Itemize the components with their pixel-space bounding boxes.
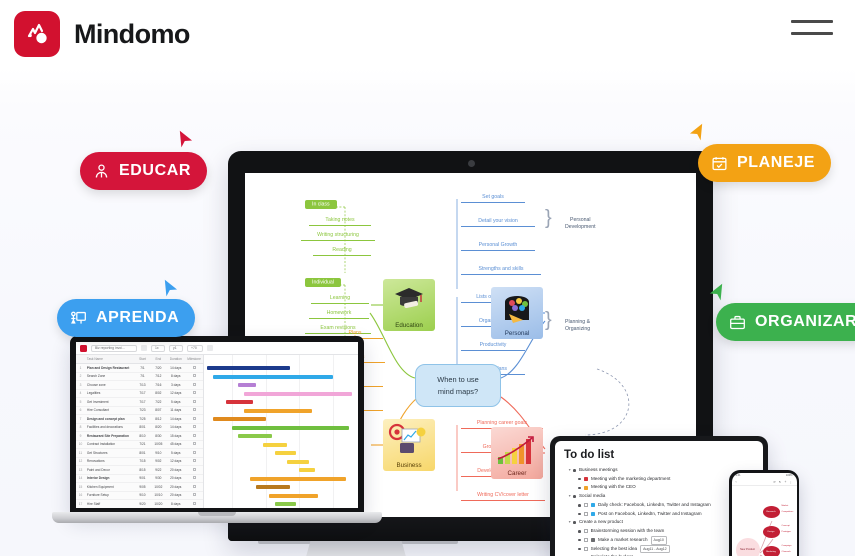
personal-leaf[interactable]: Productivity: [461, 341, 525, 351]
task-milestone: [185, 400, 203, 404]
task-end: 9/10: [150, 451, 166, 455]
task-end: 7/22: [150, 400, 166, 404]
phone-node[interactable]: Research: [763, 506, 780, 518]
phone-central-node[interactable]: New Product: [736, 538, 760, 556]
mindmap-central-node[interactable]: When to use mind maps?: [415, 364, 501, 407]
gantt-table-header: Task Name Start End Duration Milestone: [76, 355, 203, 364]
zoom-out-button[interactable]: 1x: [151, 345, 165, 352]
task-duration: 14 days: [166, 425, 185, 429]
person-icon: [584, 486, 588, 490]
status-battery: 100%: [786, 474, 793, 477]
task-name: Get Structures: [85, 451, 135, 455]
gantt-gridline: [333, 355, 334, 508]
task-milestone: [185, 476, 203, 480]
bullet-icon: [578, 513, 581, 516]
todo-item[interactable]: Selecting the best ideaAug11 - Aug12: [564, 545, 754, 554]
education-leaf[interactable]: Writing structuring: [301, 231, 375, 241]
task-start: 8/01: [135, 425, 151, 429]
fit-button[interactable]: +70: [187, 345, 203, 352]
topic-label: Personal: [505, 330, 529, 337]
todo-item[interactable]: Brainstorming session with the team: [564, 527, 754, 536]
task-start: 8/01: [135, 451, 151, 455]
gantt-task-row[interactable]: 11Get Structures8/019/105 days: [76, 449, 203, 458]
gantt-task-row[interactable]: 2Search Zone7/17/128 days: [76, 373, 203, 382]
phone-mindmap[interactable]: New Product Research Design Marketing La…: [732, 486, 797, 556]
todo-item-label: Post on Facebook, LinkedIn, Twitter and …: [598, 510, 702, 519]
task-start: 9/01: [135, 476, 151, 480]
task-end: 8/12: [150, 417, 166, 421]
todo-date-badge[interactable]: Aug10: [651, 536, 667, 545]
calendar-check-icon: [711, 155, 728, 172]
task-start: 7/17: [135, 391, 151, 395]
task-milestone: [185, 502, 203, 506]
number-2-icon: [591, 512, 595, 516]
monitor-stand: [296, 541, 416, 556]
gantt-bar[interactable]: [275, 502, 297, 506]
task-id: 1: [76, 366, 85, 370]
phone-leaf[interactable]: Competitors: [782, 511, 794, 513]
education-leaf[interactable]: Learning: [311, 294, 369, 304]
task-name: Legalities: [85, 391, 135, 395]
mindomo-mark-icon: [14, 11, 60, 57]
badge-organizar[interactable]: ORGANIZAR: [716, 303, 855, 341]
gantt-task-row[interactable]: 4Legalities7/178/0212 days: [76, 390, 203, 399]
task-milestone: [185, 459, 203, 463]
gantt-task-row[interactable]: 17Hire Staff9/2010/208 days: [76, 500, 203, 508]
gantt-body: Task Name Start End Duration Milestone 1…: [76, 355, 358, 508]
phone-leaf[interactable]: Campaign: [782, 545, 792, 547]
gantt-task-row[interactable]: 10Contract Installation7/2110/0545 days: [76, 441, 203, 450]
hero-stage: EDUCAR APRENDA PLANEJE ORGANIZAR: [0, 68, 855, 556]
filter-icon[interactable]: [207, 345, 213, 351]
todo-date-badge[interactable]: Aug11 - Aug12: [640, 545, 670, 554]
task-end: 10/02: [150, 485, 166, 489]
undo-icon[interactable]: ↺: [773, 480, 776, 484]
grid-icon[interactable]: [141, 345, 147, 351]
badge-label: EDUCAR: [119, 162, 191, 180]
hamburger-line: [791, 32, 833, 35]
checkbox[interactable]: [584, 503, 588, 507]
education-group-2-label[interactable]: Individual: [305, 279, 341, 286]
task-start: 9/10: [135, 493, 151, 497]
laptop-lid: Biz reporting invoi... 1x y1 +70 Task Na…: [70, 336, 364, 514]
gantt-bar[interactable]: [232, 426, 349, 430]
laptop-screen: Biz reporting invoi... 1x y1 +70 Task Na…: [76, 342, 358, 508]
career-leaf[interactable]: Writing CV/cover letter: [461, 491, 545, 501]
todo-item-label: Meeting with the marketing department: [591, 475, 670, 484]
todo-item-label: Make a market research: [598, 536, 648, 545]
brace-planning-organizing: }: [545, 309, 552, 332]
task-duration: 45 days: [166, 442, 185, 446]
gantt-bar[interactable]: [207, 366, 290, 370]
badge-planeje[interactable]: PLANEJE: [698, 144, 831, 182]
more-icon[interactable]: ⋮: [789, 480, 792, 484]
personal-group-2-label: Planning & Organizing: [565, 319, 590, 333]
gantt-task-row[interactable]: 3Choose zone7/137/163 days: [76, 381, 203, 390]
gantt-task-row[interactable]: 5Get Investment7/177/225 days: [76, 398, 203, 407]
task-name: Renovations: [85, 459, 135, 463]
task-end: 7/20: [150, 366, 166, 370]
bullet-icon: [578, 539, 581, 542]
gantt-task-row[interactable]: 15Kitchen Equipment9/0510/0220 days: [76, 483, 203, 492]
phone-toolbar[interactable]: ‹ ↺ ↻ + ⋮: [732, 479, 797, 486]
gantt-bar[interactable]: [226, 400, 254, 404]
gantt-bar[interactable]: [263, 443, 288, 447]
task-duration: 5 days: [166, 400, 185, 404]
bullet-icon: [578, 478, 581, 481]
todo-item[interactable]: Meeting with the CEO: [564, 483, 754, 492]
brace-personal-development: }: [545, 207, 552, 230]
gantt-toolbar: Biz reporting invoi... 1x y1 +70: [76, 342, 358, 355]
task-duration: 20 days: [166, 468, 185, 472]
task-milestone: [185, 391, 203, 395]
task-end: 10/05: [150, 442, 166, 446]
personal-leaf[interactable]: Detail your vision: [461, 217, 535, 227]
gantt-chart-area[interactable]: [204, 355, 358, 508]
col-end: End: [150, 357, 166, 361]
todo-item-label: Business meetings: [579, 466, 618, 475]
checkbox[interactable]: [584, 529, 588, 533]
bullet-icon: [573, 495, 576, 498]
task-end: 10/20: [150, 502, 166, 506]
badge-label: APRENDA: [96, 309, 179, 327]
task-start: 8/10: [135, 434, 151, 438]
task-id: 6: [76, 408, 85, 412]
task-start: 7/23: [135, 408, 151, 412]
gantt-bar[interactable]: [213, 375, 333, 379]
task-end: 9/02: [150, 459, 166, 463]
education-leaf[interactable]: Homework: [309, 309, 369, 319]
task-start: 7/13: [135, 383, 151, 387]
col-start: Start: [135, 357, 151, 361]
task-id: 9: [76, 434, 85, 438]
todo-item[interactable]: Meeting with the marketing department: [564, 475, 754, 484]
task-start: 7/15: [135, 459, 151, 463]
calendar-icon: [591, 538, 595, 542]
todo-item[interactable]: Daily check: Facebook, LinkedIn, Twitter…: [564, 501, 754, 510]
task-duration: 8 days: [166, 374, 185, 378]
gantt-task-row[interactable]: 13Paint and Decor8/159/2220 days: [76, 466, 203, 475]
education-group-1-label[interactable]: In class: [305, 201, 337, 208]
user-education-icon: [93, 163, 110, 180]
page-header: Mindomo: [0, 0, 855, 68]
back-icon[interactable]: ‹: [736, 480, 737, 484]
calendar-red-icon: [584, 477, 588, 481]
laptop-device: Biz reporting invoi... 1x y1 +70 Task Na…: [52, 336, 382, 536]
task-start: 7/25: [135, 417, 151, 421]
task-id: 11: [76, 451, 85, 455]
task-duration: 12 days: [166, 391, 185, 395]
education-leaf[interactable]: Reading: [313, 246, 371, 256]
project-selector[interactable]: Biz reporting invoi...: [91, 345, 137, 352]
gantt-task-row[interactable]: 7Design and concept plan7/258/1214 days: [76, 415, 203, 424]
gantt-bar[interactable]: [299, 468, 314, 472]
gantt-bar[interactable]: [244, 409, 312, 413]
gantt-task-row[interactable]: 16Furniture Setup9/1010/1020 days: [76, 492, 203, 501]
task-milestone: [185, 434, 203, 438]
gantt-task-row[interactable]: 9Restaurant Site Preparation8/108/3015 d…: [76, 432, 203, 441]
cursor-educar: [176, 130, 194, 150]
brand-logo[interactable]: Mindomo: [14, 11, 190, 57]
gantt-task-row[interactable]: 6Hire Consultant7/238/0711 days: [76, 407, 203, 416]
task-start: 7/1: [135, 366, 151, 370]
task-start: 9/20: [135, 502, 151, 506]
phone-node[interactable]: Design: [763, 526, 780, 538]
task-duration: 15 days: [166, 434, 185, 438]
task-duration: 3 days: [166, 383, 185, 387]
task-id: 2: [76, 374, 85, 378]
task-end: 9/30: [150, 476, 166, 480]
redo-icon[interactable]: ↻: [779, 480, 782, 484]
gantt-task-row[interactable]: 12Renovations7/159/0212 days: [76, 458, 203, 467]
gantt-bar[interactable]: [250, 477, 345, 481]
cursor-planeje: [688, 123, 706, 143]
phone-leaf[interactable]: Concept: [782, 525, 790, 527]
task-milestone: [185, 493, 203, 497]
task-id: 13: [76, 468, 85, 472]
phone-node[interactable]: Marketing: [763, 546, 780, 556]
task-name: Restaurant Site Preparation: [85, 434, 135, 438]
task-end: 7/12: [150, 374, 166, 378]
status-time: 9:41: [736, 474, 741, 477]
task-milestone: [185, 383, 203, 387]
task-start: 8/15: [135, 468, 151, 472]
personal-leaf[interactable]: Set goals: [461, 193, 525, 203]
task-start: 7/21: [135, 442, 151, 446]
task-duration: 12 days: [166, 459, 185, 463]
task-name: Facilities and decorations: [85, 425, 135, 429]
collapse-caret-icon[interactable]: ▼: [568, 467, 571, 473]
todo-item-label: Social media: [579, 492, 605, 501]
gantt-bar[interactable]: [238, 383, 256, 387]
personal-leaf[interactable]: Personal Growth: [461, 241, 535, 251]
topic-label: Education: [395, 322, 423, 329]
bullet-icon: [578, 487, 581, 490]
task-name: Search Zone: [85, 374, 135, 378]
phone-leaf[interactable]: Prototype: [782, 531, 791, 533]
task-id: 15: [76, 485, 85, 489]
task-milestone: [185, 425, 203, 429]
task-milestone: [185, 374, 203, 378]
presenter-board-icon: [70, 310, 87, 327]
hamburger-line: [791, 20, 833, 23]
personal-group-1-label: Personal Development: [565, 217, 596, 231]
task-duration: 14 days: [166, 417, 185, 421]
todo-item-label: Daily check: Facebook, LinkedIn, Twitter…: [598, 501, 711, 510]
gantt-task-table: Task Name Start End Duration Milestone 1…: [76, 355, 204, 508]
todo-item-label: Selecting the best idea: [591, 545, 637, 554]
task-duration: 8 days: [166, 502, 185, 506]
todo-item-label: Create a new product: [579, 518, 623, 527]
personal-leaf[interactable]: Strengths and skills: [461, 265, 541, 275]
gantt-bar[interactable]: [275, 451, 297, 455]
task-milestone: [185, 408, 203, 412]
checkbox[interactable]: [584, 538, 588, 542]
bullet-icon: [578, 504, 581, 507]
bullet-icon: [578, 548, 581, 551]
task-duration: 14 days: [166, 366, 185, 370]
todo-item[interactable]: ▼Create a new product: [564, 518, 754, 527]
collapse-caret-icon[interactable]: ▼: [568, 493, 571, 499]
task-name: Get Investment: [85, 400, 135, 404]
topic-business[interactable]: Business: [383, 419, 435, 471]
task-start: 9/05: [135, 485, 151, 489]
topic-label: Career: [508, 470, 527, 477]
cursor-organizar: [708, 283, 726, 303]
gantt-bar[interactable]: [244, 392, 352, 396]
task-end: 8/30: [150, 434, 166, 438]
task-duration: 5 days: [166, 451, 185, 455]
bullet-icon: [573, 469, 576, 472]
collapse-caret-icon[interactable]: ▼: [568, 519, 571, 525]
task-id: 8: [76, 425, 85, 429]
task-name: Hire Consultant: [85, 408, 135, 412]
brand-name: Mindomo: [74, 19, 190, 50]
col-task-name: Task Name: [85, 357, 135, 361]
badge-label: PLANEJE: [737, 154, 815, 172]
task-end: 10/10: [150, 493, 166, 497]
task-milestone: [185, 468, 203, 472]
task-id: 12: [76, 459, 85, 463]
topic-personal[interactable]: Personal: [491, 287, 543, 339]
task-name: Paint and Decor: [85, 468, 135, 472]
gantt-task-row[interactable]: 1Plan and Design Restaurant7/17/2014 day…: [76, 364, 203, 373]
task-milestone: [185, 417, 203, 421]
task-id: 16: [76, 493, 85, 497]
add-icon[interactable]: +: [784, 480, 786, 484]
task-end: 8/02: [150, 391, 166, 395]
badge-educar[interactable]: EDUCAR: [80, 152, 207, 190]
col-duration: Duration: [166, 357, 185, 361]
task-milestone: [185, 442, 203, 446]
phone-device: 9:41 100% ‹ ↺ ↻ + ⋮ New Product: [729, 470, 799, 556]
todo-item[interactable]: Post on Facebook, LinkedIn, Twitter and …: [564, 510, 754, 519]
gantt-bar[interactable]: [213, 417, 265, 421]
central-line-2: mind maps?: [438, 386, 478, 397]
task-name: Hire Staff: [85, 502, 135, 506]
laptop-notch: [198, 512, 236, 516]
task-milestone: [185, 366, 203, 370]
task-duration: 11 days: [166, 408, 185, 412]
phone-leaf[interactable]: Channels: [782, 551, 791, 553]
badge-aprenda[interactable]: APRENDA: [57, 299, 195, 337]
education-leaf[interactable]: Taking notes: [309, 216, 371, 226]
hamburger-icon[interactable]: [791, 20, 833, 46]
task-name: Kitchen Equipment: [85, 485, 135, 489]
task-milestone: [185, 451, 203, 455]
task-start: 7/1: [135, 374, 151, 378]
checkbox[interactable]: [584, 547, 588, 551]
gantt-bar[interactable]: [269, 494, 318, 498]
task-milestone: [185, 485, 203, 489]
phone-leaf[interactable]: Market: [782, 505, 789, 507]
briefcase-icon: [729, 314, 746, 331]
central-line-1: When to use: [437, 374, 479, 385]
todo-item[interactable]: ▼Social media: [564, 492, 754, 501]
todo-item[interactable]: ▼Business meetings: [564, 466, 754, 475]
task-id: 17: [76, 502, 85, 506]
app-logo-icon: [80, 345, 87, 352]
task-id: 5: [76, 400, 85, 404]
task-duration: 20 days: [166, 476, 185, 480]
task-end: 9/22: [150, 468, 166, 472]
task-name: Choose zone: [85, 383, 135, 387]
todo-title: To do list: [564, 449, 754, 461]
task-id: 10: [76, 442, 85, 446]
task-name: Contract Installation: [85, 442, 135, 446]
task-duration: 20 days: [166, 485, 185, 489]
task-name: Design and concept plan: [85, 417, 135, 421]
task-id: 14: [76, 476, 85, 480]
col-milestone: Milestone: [185, 357, 203, 361]
task-name: Interior Design: [85, 476, 135, 480]
gantt-task-row[interactable]: 14Interior Design9/019/3020 days: [76, 475, 203, 484]
task-id: 3: [76, 383, 85, 387]
todo-item-label: Meeting with the CEO: [591, 483, 636, 492]
webcam-icon: [468, 160, 475, 167]
gantt-bar[interactable]: [256, 485, 290, 489]
badge-label: ORGANIZAR: [755, 313, 855, 331]
task-duration: 20 days: [166, 493, 185, 497]
task-end: 7/16: [150, 383, 166, 387]
todo-list[interactable]: ▼Business meetingsMeeting with the marke…: [564, 466, 754, 556]
task-id: 7: [76, 417, 85, 421]
task-end: 8/07: [150, 408, 166, 412]
bullet-icon: [573, 521, 576, 524]
todo-item-label: Brainstorming session with the team: [591, 527, 665, 536]
topic-label: Business: [396, 462, 421, 469]
task-name: Plan and Design Restaurant: [85, 366, 135, 370]
topic-career[interactable]: Career: [491, 427, 543, 479]
gantt-task-row[interactable]: 8Facilities and decorations8/018/2014 da…: [76, 424, 203, 433]
task-start: 7/17: [135, 400, 151, 404]
task-end: 8/20: [150, 425, 166, 429]
phone-screen: 9:41 100% ‹ ↺ ↻ + ⋮ New Product: [732, 473, 797, 556]
topic-education[interactable]: Education: [383, 279, 435, 331]
number-1-icon: [591, 503, 595, 507]
task-name: Furniture Setup: [85, 493, 135, 497]
checkbox[interactable]: [584, 512, 588, 516]
task-id: 4: [76, 391, 85, 395]
gantt-bar[interactable]: [238, 434, 272, 438]
todo-item[interactable]: Make a market researchAug10: [564, 536, 754, 545]
gantt-rows: 1Plan and Design Restaurant7/17/2014 day…: [76, 364, 203, 508]
zoom-in-button[interactable]: y1: [169, 345, 183, 352]
bullet-icon: [578, 530, 581, 533]
cursor-aprenda: [161, 279, 179, 299]
gantt-bar[interactable]: [287, 460, 309, 464]
